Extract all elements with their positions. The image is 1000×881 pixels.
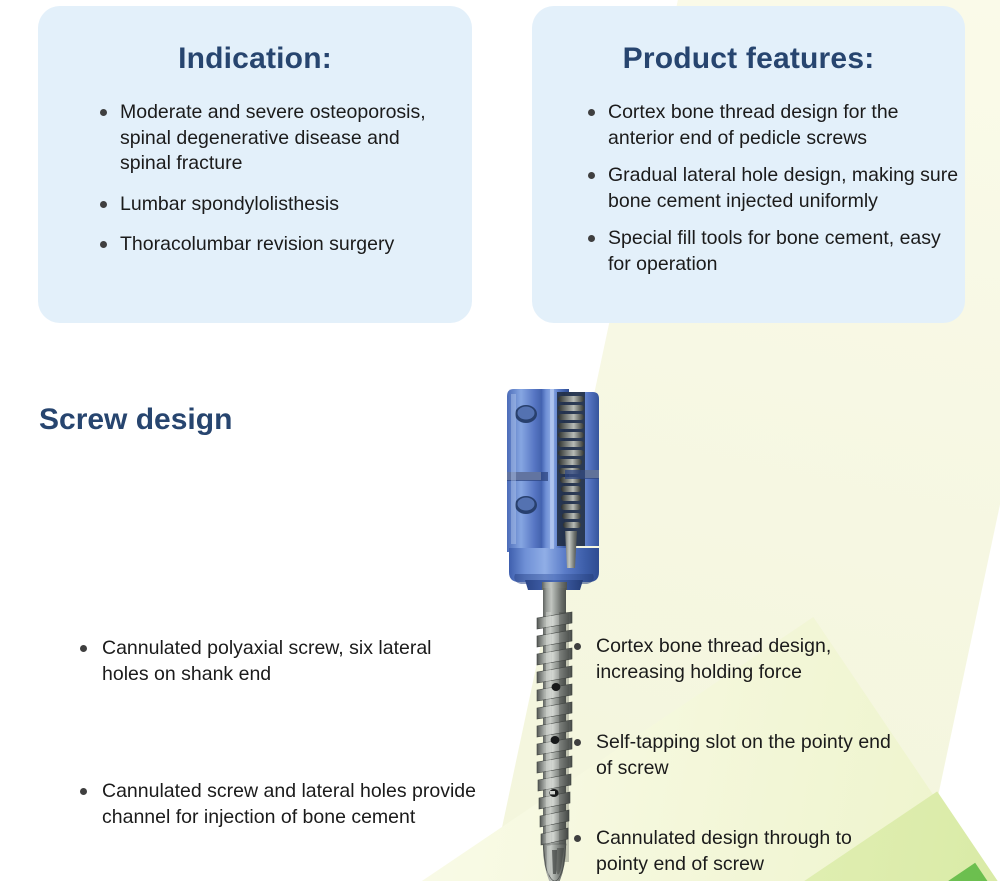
- list-item: Cannulated design through to pointy end …: [572, 826, 902, 877]
- screw-design-heading: Screw design: [39, 403, 232, 437]
- indication-panel-title: Indication:: [38, 6, 472, 76]
- product-features-panel-title: Product features:: [532, 6, 965, 76]
- list-item: Thoracolumbar revision surgery: [96, 232, 452, 258]
- screw-design-right-bullets: Cortex bone thread design, increasing ho…: [572, 634, 902, 877]
- product-features-bullet-list: Cortex bone thread design for the anteri…: [532, 100, 965, 277]
- list-item: Moderate and severe osteoporosis, spinal…: [96, 100, 452, 177]
- list-item: Self-tapping slot on the pointy end of s…: [572, 730, 902, 781]
- list-item: Cortex bone thread design, increasing ho…: [572, 634, 902, 685]
- product-features-panel: Product features: Cortex bone thread des…: [532, 6, 965, 323]
- screw-design-left-bullets: Cannulated polyaxial screw, six lateral …: [78, 636, 478, 830]
- infographic-page: Indication: Moderate and severe osteopor…: [0, 0, 1000, 881]
- list-item: Cortex bone thread design for the anteri…: [584, 100, 959, 151]
- list-item: Cannulated polyaxial screw, six lateral …: [78, 636, 478, 687]
- list-item: Cannulated screw and lateral holes provi…: [78, 779, 478, 830]
- list-item: Gradual lateral hole design, making sure…: [584, 163, 959, 214]
- list-item: Lumbar spondylolisthesis: [96, 192, 452, 218]
- list-item: Special fill tools for bone cement, easy…: [584, 226, 959, 277]
- indication-bullet-list: Moderate and severe osteoporosis, spinal…: [38, 100, 472, 258]
- indication-panel: Indication: Moderate and severe osteopor…: [38, 6, 472, 323]
